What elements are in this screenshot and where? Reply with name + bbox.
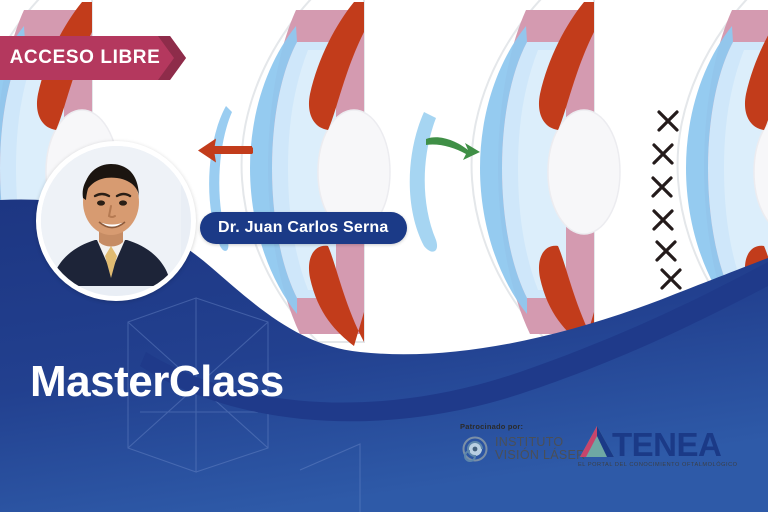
sponsor-block: Patrocinado por: INSTITUTO VISIÓN LÁSER xyxy=(460,422,585,464)
promo-card: ACCESO LIBRE xyxy=(0,0,768,512)
institute-name-line2: VISIÓN LÁSER xyxy=(495,449,585,462)
tenea-logo: TENEA EL PORTAL DEL CONOCIMIENTO OFTALMO… xyxy=(578,424,738,468)
avatar xyxy=(36,141,196,301)
acceso-libre-ribbon xyxy=(0,36,186,80)
speaker-name-pill: Dr. Juan Carlos Serna xyxy=(200,212,407,244)
sponsor-label: Patrocinado por: xyxy=(460,422,585,431)
instituto-vision-laser-logo: INSTITUTO VISIÓN LÁSER xyxy=(460,434,585,464)
eye-spiral-icon xyxy=(460,434,490,464)
doctor-portrait-illustration xyxy=(41,146,181,286)
tenea-tagline: EL PORTAL DEL CONOCIMIENTO OFTALMOLÓGICO xyxy=(578,462,738,468)
page-title: MasterClass xyxy=(30,357,284,407)
tenea-wordmark: TENEA xyxy=(612,429,721,460)
speaker-name: Dr. Juan Carlos Serna xyxy=(218,219,389,237)
